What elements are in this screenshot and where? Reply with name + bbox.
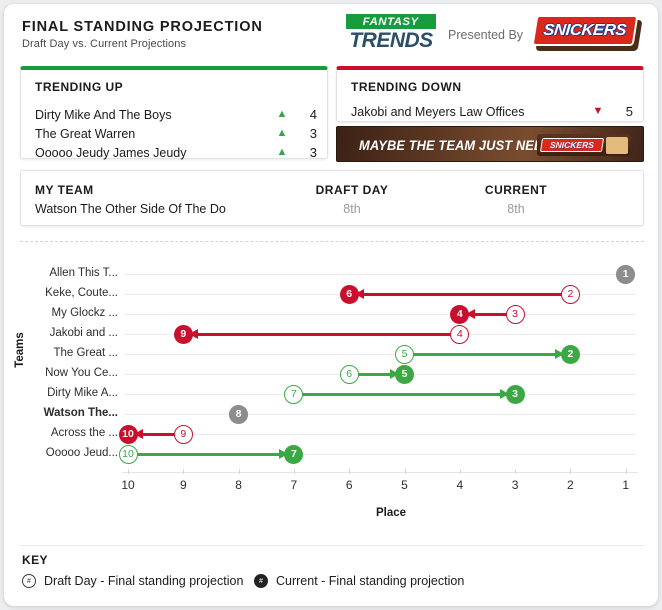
chart-gridline (124, 274, 636, 275)
chart-marker-draft-day: 7 (284, 385, 303, 404)
chart-y-label: Jakobi and ... (22, 327, 118, 339)
snickers-logo-text: SNICKERS (543, 22, 627, 40)
chart-x-tick-label: 3 (495, 478, 535, 492)
page-title: FINAL STANDING PROJECTION (22, 19, 263, 35)
header: FINAL STANDING PROJECTION Draft Day vs. … (4, 4, 658, 62)
chart-y-label: Now You Ce... (22, 367, 118, 379)
snickers-bar-nougat (606, 137, 628, 154)
fantasy-trends-logo-top-text: FANTASY (363, 16, 419, 28)
fantasy-trends-logo: FANTASY TRENDS (346, 14, 436, 52)
chart-x-tick-label: 1 (606, 478, 646, 492)
current-column-header: CURRENT (461, 183, 571, 197)
trending-up-row: The Great Warren ▲ 3 (35, 124, 317, 143)
page-subtitle: Draft Day vs. Current Projections (22, 38, 186, 50)
trending-down-team-name: Jakobi and Meyers Law Offices (351, 105, 585, 119)
my-team-current-value: 8th (461, 202, 571, 216)
snickers-bar-image: SNICKERS (537, 134, 631, 156)
chart-connector (298, 393, 511, 396)
my-team-name: Watson The Other Side Of The Do (35, 202, 226, 216)
trending-up-team-name: Dirty Mike And The Boys (35, 108, 269, 122)
chart-x-tick-mark (570, 469, 571, 474)
chart-x-tick-mark (460, 469, 461, 474)
chart-marker-draft-day: 10 (119, 445, 138, 464)
chart-marker-draft-day: 6 (340, 365, 359, 384)
trending-up-change: 3 (295, 145, 317, 160)
chart-x-axis-line (122, 472, 638, 473)
current-marker-icon: # (254, 574, 268, 588)
chart-x-tick-mark (239, 469, 240, 474)
chart-x-tick-label: 7 (274, 478, 314, 492)
chart-x-axis-title: Place (4, 507, 658, 519)
chart-x-tick-label: 5 (385, 478, 425, 492)
trending-down-change: 5 (611, 104, 633, 119)
chart-marker-draft-day: 2 (561, 285, 580, 304)
trending-up-change: 3 (295, 126, 317, 141)
draft-day-column-header: DRAFT DAY (297, 183, 407, 197)
chart-y-label: Ooooo Jeud... (22, 447, 118, 459)
trending-down-row: Jakobi and Meyers Law Offices ▼ 5 (351, 102, 633, 121)
chart-gridline (124, 434, 636, 435)
trending-up-row: Ooooo Jeudy James Jeudy ▲ 3 (35, 143, 317, 162)
trending-down-panel: TRENDING DOWN Jakobi and Meyers Law Offi… (336, 66, 644, 122)
chart-marker-current: 10 (119, 425, 138, 444)
snickers-logo: SNICKERS (534, 15, 640, 51)
trend-up-arrow-icon: ▲ (269, 128, 295, 139)
draft-day-marker-icon: # (22, 574, 36, 588)
my-team-column-header: MY TEAM (35, 183, 94, 197)
chart-y-label: Watson The... (22, 407, 118, 419)
trend-down-arrow-icon: ▼ (585, 106, 611, 117)
trending-up-team-name: The Great Warren (35, 127, 269, 141)
trending-up-heading: TRENDING UP (35, 80, 123, 94)
key-item-current: # Current - Final standing projection (254, 574, 464, 588)
trending-up-panel: TRENDING UP Dirty Mike And The Boys ▲ 4 … (20, 66, 328, 159)
trending-up-change: 4 (295, 107, 317, 122)
chart-marker-current: 4 (450, 305, 469, 324)
chart-marker-draft-day: 3 (506, 305, 525, 324)
key-item-label: Current - Final standing projection (276, 574, 464, 588)
chart-x-tick-mark (405, 469, 406, 474)
snickers-bar-wrapper-text: SNICKERS (550, 140, 594, 150)
chart-connector (132, 453, 290, 456)
chart-marker-draft-day: 5 (395, 345, 414, 364)
chart-connector (409, 353, 567, 356)
key-divider (20, 545, 644, 546)
fantasy-trends-logo-bottom: TRENDS (346, 29, 436, 52)
chart-marker-current: 5 (395, 365, 414, 384)
chart-x-tick-label: 9 (163, 478, 203, 492)
chart-x-tick-label: 4 (440, 478, 480, 492)
key-title: KEY (22, 553, 48, 567)
chart-y-label: The Great ... (22, 347, 118, 359)
chart-marker-current: 3 (506, 385, 525, 404)
chart-marker-draft-day: 9 (174, 425, 193, 444)
presented-by-label: Presented By (448, 28, 523, 42)
chart-x-tick-mark (626, 469, 627, 474)
fantasy-trends-logo-top: FANTASY (346, 14, 436, 29)
chart-y-label: Keke, Coute... (22, 287, 118, 299)
chart-marker-current: 1 (616, 265, 635, 284)
chart-marker-draft-day: 4 (450, 325, 469, 344)
chart-connector (353, 293, 566, 296)
chart-x-tick-mark (128, 469, 129, 474)
chart-x-tick-label: 8 (219, 478, 259, 492)
report-card: FINAL STANDING PROJECTION Draft Day vs. … (4, 4, 658, 606)
chart-connector (187, 333, 456, 336)
chart-marker-current: 2 (561, 345, 580, 364)
chart-x-tick-mark (349, 469, 350, 474)
key-item-label: Draft Day - Final standing projection (44, 574, 243, 588)
snickers-bar-wrapper-logo: SNICKERS (540, 138, 604, 152)
trend-up-arrow-icon: ▲ (269, 109, 295, 120)
chart-x-tick-mark (183, 469, 184, 474)
chart-gridline (124, 314, 636, 315)
fantasy-trends-logo-bottom-text: TRENDS (349, 30, 432, 51)
trend-up-arrow-icon: ▲ (269, 147, 295, 158)
chart-x-tick-label: 2 (550, 478, 590, 492)
chart-marker-current: 8 (229, 405, 248, 424)
chart-x-tick-mark (515, 469, 516, 474)
chart-y-label: Across the ... (22, 427, 118, 439)
key-item-draft-day: # Draft Day - Final standing projection (22, 574, 243, 588)
trending-up-team-name: Ooooo Jeudy James Jeudy (35, 146, 269, 160)
chart-x-tick-mark (294, 469, 295, 474)
trending-up-row: Dirty Mike And The Boys ▲ 4 (35, 105, 317, 124)
snickers-logo-face: SNICKERS (532, 15, 639, 46)
my-team-draft-day-value: 8th (297, 202, 407, 216)
snickers-ad-banner[interactable]: MAYBE THE TEAM JUST NEEDS A SNICKERS (336, 126, 644, 162)
chart-marker-current: 7 (284, 445, 303, 464)
chart-marker-current: 6 (340, 285, 359, 304)
chart-y-label: Dirty Mike A... (22, 387, 118, 399)
chart-y-label: My Glockz ... (22, 307, 118, 319)
chart-x-tick-label: 6 (329, 478, 369, 492)
section-divider (20, 241, 644, 242)
my-team-panel: MY TEAM DRAFT DAY CURRENT Watson The Oth… (20, 170, 644, 226)
chart-x-tick-label: 10 (108, 478, 148, 492)
chart-marker-current: 9 (174, 325, 193, 344)
trending-down-heading: TRENDING DOWN (351, 80, 462, 94)
chart-y-label: Allen This T... (22, 267, 118, 279)
chart-gridline (124, 414, 636, 415)
